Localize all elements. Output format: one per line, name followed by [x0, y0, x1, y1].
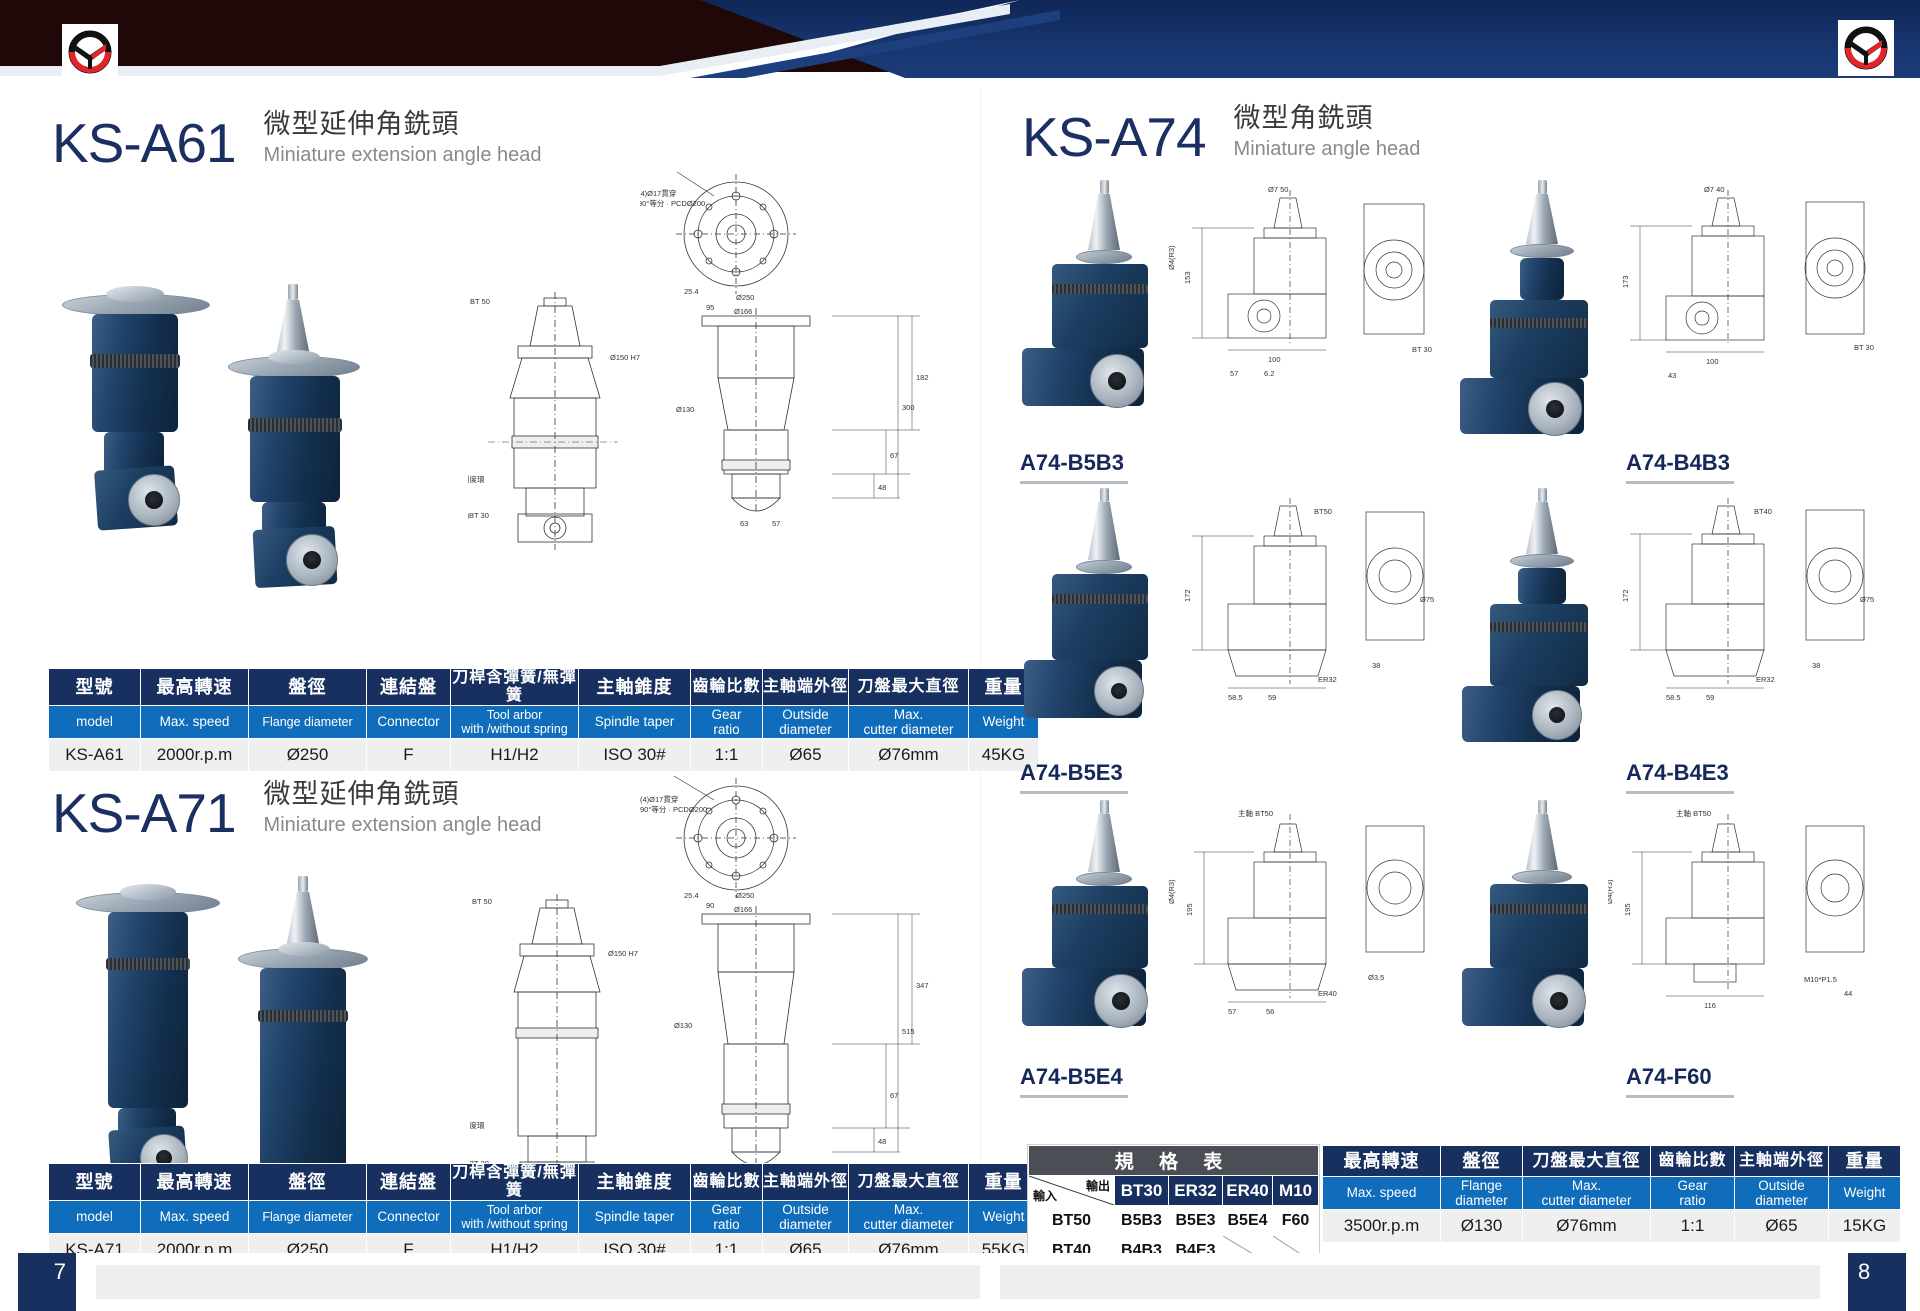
- th-outsidedia-en: Outside diameter: [763, 1200, 849, 1233]
- dim-value: ER40: [1318, 989, 1337, 998]
- dim-value: 57: [1230, 369, 1238, 378]
- th-gearratio-en: Gear ratio: [1651, 1177, 1735, 1210]
- ks-a74-spec-table: 最高轉速 盤徑 刀盤最大直徑 齒輪比數 主軸端外徑 重量 Max. speed …: [1322, 1145, 1901, 1243]
- th-outsidedia-en: Outside diameter: [1735, 1177, 1829, 1210]
- dim-value: 38: [1372, 661, 1380, 670]
- th-gearratio-cn: 齒輪比數: [1651, 1146, 1735, 1177]
- td-outsidedia: Ø65: [763, 738, 849, 771]
- td-maxcutter: Ø76mm: [1523, 1210, 1651, 1243]
- table-header-en-row: model Max. speed Flange diameter Connect…: [49, 1200, 1039, 1233]
- th-gearratio-cn: 齒輪比數: [691, 1164, 763, 1201]
- dim-value: 515: [902, 1027, 915, 1036]
- product-name-en: Miniature extension angle head: [264, 142, 542, 168]
- th-maxcutter-cn: 刀盤最大直徑: [849, 1164, 969, 1201]
- product-name-en: Miniature angle head: [1234, 136, 1421, 162]
- matrix-col-bt30: BT30: [1115, 1176, 1169, 1206]
- dim-value: 63: [740, 519, 748, 528]
- ks-a61-top-view-drawing: (4)Ø17貫穿 90°等分 · PCDØ200 25.4: [640, 172, 840, 302]
- td-spindletaper: ISO 30#: [579, 738, 691, 771]
- th-maxspeed-cn: 最高轉速: [1323, 1146, 1441, 1177]
- th-maxcutter-cn: 刀盤最大直徑: [1523, 1146, 1651, 1177]
- th-toolarbor-en: Tool arbor with /without spring: [451, 705, 579, 738]
- td-maxspeed: 2000r.p.m: [141, 738, 249, 771]
- td-outsidedia: Ø65: [1735, 1210, 1829, 1243]
- banner-base: [0, 78, 1920, 88]
- note-spindle: 主軸 BT50: [1676, 808, 1711, 818]
- dim-value: BT 30: [1412, 345, 1432, 354]
- model-label: A74-B5B3: [1020, 450, 1124, 479]
- model-label-block: A74-B4E3: [1626, 760, 1734, 794]
- dim-value: 58.5: [1666, 693, 1681, 702]
- th-gearratio-en: Gear ratio: [691, 1200, 763, 1233]
- page-number-left: 7: [18, 1253, 76, 1311]
- th-outsidedia-cn: 主軸端外徑: [763, 669, 849, 706]
- product-name-cn: 微型延伸角銑頭: [264, 108, 542, 142]
- th-maxspeed-en: Max. speed: [141, 705, 249, 738]
- model-label: A74-B5E4: [1020, 1064, 1123, 1093]
- matrix-col-m10: M10: [1273, 1176, 1319, 1206]
- model-underline: [1626, 791, 1734, 794]
- matrix-corner-cell: 輸入 輸出: [1029, 1176, 1115, 1206]
- th-toolarbor-en: Tool arbor with /without spring: [451, 1200, 579, 1233]
- th-connector-cn: 連結盤: [367, 669, 451, 706]
- a74-b5e4-dimension-drawing: 主軸 BT50 195 Ø4(R3) ER40 57 56 Ø3.5: [1168, 804, 1458, 1054]
- table-header-cn-row: 最高轉速 盤徑 刀盤最大直徑 齒輪比數 主軸端外徑 重量: [1323, 1146, 1901, 1177]
- product-heading-ks-a74: KS-A74 微型角銑頭 Miniature angle head: [1022, 102, 1420, 165]
- th-toolarbor-cn: 刀桿含彈簧/無彈簧: [451, 669, 579, 706]
- dim-value: 182: [916, 373, 929, 382]
- model-underline: [1626, 481, 1734, 484]
- model-card-a74-b4e3: BT40 172 ER32 58.5 59 38 Ø75 A74-B4E3: [1458, 488, 1908, 798]
- product-heading-ks-a61: KS-A61 微型延伸角銑頭 Miniature extension angle…: [52, 108, 542, 171]
- model-card-a74-b5e3: BT50 172 ER32 58.5 59 38 Ø75 A74-B5E3: [1018, 488, 1458, 798]
- note-dia-130: Ø130: [676, 405, 694, 414]
- th-flange-en: Flange diameter: [249, 1200, 367, 1233]
- model-label: A74-B4B3: [1626, 450, 1730, 479]
- matrix-col-er32: ER32: [1169, 1176, 1223, 1206]
- model-underline: [1020, 481, 1128, 484]
- th-gearratio-cn: 齒輪比數: [691, 669, 763, 706]
- dim-value: 172: [1183, 589, 1192, 602]
- note-bolt-circle: (4)Ø17貫穿: [640, 188, 676, 198]
- a74-selection-matrix: 規 格 表 輸入 輸出 BT30 ER32 ER40 M10 BT50 B5B3…: [1028, 1145, 1319, 1266]
- note-dia-150: Ø150 H7: [608, 949, 638, 958]
- th-spindletaper-en: Spindle taper: [579, 1200, 691, 1233]
- company-logo-icon: [1838, 20, 1894, 76]
- dim-value: 48: [878, 1137, 886, 1146]
- dim-value: BT 30: [1854, 343, 1874, 352]
- matrix-title: 規 格 表: [1029, 1146, 1319, 1176]
- th-toolarbor-cn: 刀桿含彈簧/無彈簧: [451, 1164, 579, 1201]
- page-banner: [0, 0, 1920, 88]
- dim-value: 57: [1228, 1007, 1236, 1016]
- dim-value: Ø75: [1420, 595, 1434, 604]
- th-outsidedia-cn: 主軸端外徑: [763, 1164, 849, 1201]
- th-model-en: model: [49, 705, 141, 738]
- ks-a71-top-view-drawing: (4)Ø17貫穿 90°等分 · PCDØ200 25.4: [640, 768, 840, 908]
- dim-value: 172: [1621, 589, 1630, 602]
- dim-value: 56: [1266, 1007, 1274, 1016]
- dim-value: Ø4(R3): [1168, 879, 1176, 904]
- dim-value: 44: [1844, 989, 1852, 998]
- dim-value: ER32: [1318, 675, 1337, 684]
- model-label-block: A74-B5B3: [1020, 450, 1128, 484]
- dim-value: Ø3.5: [1368, 973, 1384, 982]
- model-label: A74-B4E3: [1626, 760, 1729, 789]
- dim-value: 67: [890, 451, 898, 460]
- note-bolt-spacing: 90°等分 · PCDØ200: [640, 198, 705, 208]
- td-gearratio: 1:1: [691, 738, 763, 771]
- matrix-header-row: 輸入 輸出 BT30 ER32 ER40 M10: [1029, 1176, 1319, 1206]
- dim-value: Ø4(R3): [1608, 879, 1614, 904]
- th-flange-en: Flange diameter: [249, 705, 367, 738]
- dim-value: 95: [706, 303, 714, 312]
- th-model-cn: 型號: [49, 669, 141, 706]
- dim-value: Ø7 40: [1704, 185, 1724, 194]
- td-maxcutter: Ø76mm: [849, 738, 969, 771]
- note-bt-label: BT 50: [470, 297, 490, 306]
- th-connector-en: Connector: [367, 705, 451, 738]
- matrix-cell-b5e4: B5E4: [1223, 1206, 1273, 1236]
- left-page: KS-A61 微型延伸角銑頭 Miniature extension angle…: [0, 88, 980, 1253]
- dim-value: 67: [890, 1091, 898, 1100]
- th-spindletaper-en: Spindle taper: [579, 705, 691, 738]
- th-connector-cn: 連結盤: [367, 1164, 451, 1201]
- note-dia-130: Ø130: [674, 1021, 692, 1030]
- model-underline: [1020, 1095, 1128, 1098]
- ks-a61-front-elevation-drawing: Ø250 Ø166 Ø130 182 300 67 48 95 63 57: [660, 290, 940, 560]
- footer-strip-left: [96, 1265, 980, 1299]
- product-code: KS-A74: [1022, 110, 1206, 165]
- model-card-a74-f60: 主軸 BT50 195 Ø4(R3) M10*P1.5 116 44 A74-F…: [1458, 800, 1908, 1100]
- dim-value: 90: [706, 901, 714, 910]
- dim-value: Ø75: [1860, 595, 1874, 604]
- model-underline: [1020, 791, 1128, 794]
- model-card-a74-b5b3: Ø7 50 153 Ø4(R3) 100 57 6.2 BT 30 A74-B5…: [1018, 180, 1458, 490]
- dim-value: M10*P1.5: [1804, 975, 1837, 984]
- model-label: A74-F60: [1626, 1064, 1712, 1093]
- matrix-cell-b5b3: B5B3: [1115, 1206, 1169, 1236]
- td-gearratio: 1:1: [1651, 1210, 1735, 1243]
- th-maxspeed-cn: 最高轉速: [141, 669, 249, 706]
- th-maxspeed-en: Max. speed: [141, 1200, 249, 1233]
- model-label-block: A74-B5E4: [1020, 1064, 1128, 1098]
- th-weight-cn: 重量: [1829, 1146, 1901, 1177]
- dim-value: 48: [878, 483, 886, 492]
- th-model-cn: 型號: [49, 1164, 141, 1201]
- note-dia-250: Ø250: [736, 891, 754, 900]
- th-maxcutter-cn: 刀盤最大直徑: [849, 669, 969, 706]
- dim-value: 59: [1706, 693, 1714, 702]
- dim-value: BT40: [1754, 507, 1772, 516]
- dim-value: 116: [1704, 1001, 1716, 1010]
- th-flange-cn: 盤徑: [249, 669, 367, 706]
- model-card-a74-b5e4: 主軸 BT50 195 Ø4(R3) ER40 57 56 Ø3.5 A74-B…: [1018, 800, 1458, 1100]
- matrix-cell-b5e3: B5E3: [1169, 1206, 1223, 1236]
- dim-value: BT50: [1314, 507, 1332, 516]
- ks-a71-spec-table: 型號 最高轉速 盤徑 連結盤 刀桿含彈簧/無彈簧 主軸錐度 齒輪比數 主軸端外徑…: [48, 1163, 1039, 1267]
- table-header-en-row: Max. speed Flange diameter Max. cutter d…: [1323, 1177, 1901, 1210]
- model-card-a74-b4b3: Ø7 40 173 100 43 BT 30 A74-B4B3: [1458, 180, 1908, 490]
- dim-value: ER32: [1756, 675, 1775, 684]
- td-model: KS-A61: [49, 738, 141, 771]
- ks-a61-artwork: (4)Ø17貫穿 90°等分 · PCDØ200 25.4: [0, 168, 980, 558]
- dim-value: 300: [902, 403, 915, 412]
- matrix-corner-output: 輸出: [1086, 1177, 1110, 1194]
- dim-value: 58.5: [1228, 693, 1243, 702]
- dim-value: Ø7 50: [1268, 185, 1288, 194]
- table-header-cn-row: 型號 最高轉速 盤徑 連結盤 刀桿含彈簧/無彈簧 主軸錐度 齒輪比數 主軸端外徑…: [49, 1164, 1039, 1201]
- note-scale-ring: 刻度環: [468, 474, 485, 484]
- dim-value: 347: [916, 981, 929, 990]
- th-outsidedia-cn: 主軸端外徑: [1735, 1146, 1829, 1177]
- model-label: A74-B5E3: [1020, 760, 1123, 789]
- dim-value: 173: [1621, 275, 1630, 288]
- a74-b4b3-dimension-drawing: Ø7 40 173 100 43 BT 30: [1608, 184, 1908, 434]
- dim-value: Ø4(R3): [1168, 245, 1176, 270]
- th-weight-en: Weight: [1829, 1177, 1901, 1210]
- note-dia-166: Ø166: [734, 307, 752, 316]
- th-connector-en: Connector: [367, 1200, 451, 1233]
- th-maxcutter-en: Max. cutter diameter: [849, 1200, 969, 1233]
- note-scale-ring: 刻度環: [470, 1120, 485, 1130]
- matrix-col-er40: ER40: [1223, 1176, 1273, 1206]
- note-bt-label: BT 50: [472, 897, 492, 906]
- note-spindle: 主軸 BT50: [1238, 808, 1273, 818]
- dim-value: 59: [1268, 693, 1276, 702]
- footer-strip-right: [1000, 1265, 1820, 1299]
- matrix-row-head-bt50: BT50: [1029, 1206, 1115, 1236]
- model-label-block: A74-B5E3: [1020, 760, 1128, 794]
- td-flange: Ø130: [1441, 1210, 1523, 1243]
- table-header-cn-row: 型號 最高轉速 盤徑 連結盤 刀桿含彈簧/無彈簧 主軸錐度 齒輪比數 主軸端外徑…: [49, 669, 1039, 706]
- td-maxspeed: 3500r.p.m: [1323, 1210, 1441, 1243]
- dim-value: 100: [1268, 355, 1281, 364]
- dim-value: 100: [1706, 357, 1719, 366]
- ks-a71-artwork: (4)Ø17貫穿 90°等分 · PCDØ200 25.4: [0, 788, 980, 1228]
- th-gearratio-en: Gear ratio: [691, 705, 763, 738]
- td-weight: 15KG: [1829, 1210, 1901, 1243]
- th-maxspeed-cn: 最高轉速: [141, 1164, 249, 1201]
- td-connector: F: [367, 738, 451, 771]
- table-row: 3500r.p.m Ø130 Ø76mm 1:1 Ø65 15KG: [1323, 1210, 1901, 1243]
- note-spindle: 主軸BT 30: [468, 510, 489, 520]
- th-spindletaper-cn: 主軸錐度: [579, 1164, 691, 1201]
- a74-f60-dimension-drawing: 主軸 BT50 195 Ø4(R3) M10*P1.5 116 44: [1608, 804, 1908, 1054]
- th-flange-cn: 盤徑: [1441, 1146, 1523, 1177]
- company-logo-icon: [62, 24, 118, 80]
- note-dia-250: Ø250: [736, 293, 754, 302]
- table-row: KS-A61 2000r.p.m Ø250 F H1/H2 ISO 30# 1:…: [49, 738, 1039, 771]
- product-name-cn: 微型角銑頭: [1234, 102, 1421, 136]
- th-maxspeed-en: Max. speed: [1323, 1177, 1441, 1210]
- product-code: KS-A61: [52, 116, 236, 171]
- matrix-cell-f60: F60: [1273, 1206, 1319, 1236]
- th-outsidedia-en: Outside diameter: [763, 705, 849, 738]
- matrix-row-bt50: BT50 B5B3 B5E3 B5E4 F60: [1029, 1206, 1319, 1236]
- page-number-right: 8: [1848, 1253, 1906, 1311]
- note-dia-166: Ø166: [734, 905, 752, 914]
- a74-b5b3-dimension-drawing: Ø7 50 153 Ø4(R3) 100 57 6.2 BT 30: [1168, 184, 1458, 434]
- matrix-corner-input: 輸入: [1033, 1187, 1057, 1204]
- right-page: KS-A74 微型角銑頭 Miniature angle head: [1000, 88, 1920, 1253]
- model-label-block: A74-F60: [1626, 1064, 1734, 1098]
- dim-value: 57: [772, 519, 780, 528]
- matrix-title-row: 規 格 表: [1029, 1146, 1319, 1176]
- a74-b5e3-dimension-drawing: BT50 172 ER32 58.5 59 38 Ø75: [1168, 492, 1458, 742]
- th-maxcutter-en: Max. cutter diameter: [849, 705, 969, 738]
- dim-value: 38: [1812, 661, 1820, 670]
- a74-b4e3-dimension-drawing: BT40 172 ER32 58.5 59 38 Ø75: [1608, 492, 1908, 742]
- td-toolarbor: H1/H2: [451, 738, 579, 771]
- dim-value: 195: [1185, 903, 1194, 916]
- dim-value: 43: [1668, 371, 1676, 380]
- note-bolt-circle: (4)Ø17貫穿: [640, 794, 678, 804]
- note-dia-150: Ø150 H7: [610, 353, 640, 362]
- note-bolt-spacing: 90°等分 · PCDØ200: [640, 804, 707, 814]
- th-model-en: model: [49, 1200, 141, 1233]
- td-flange: Ø250: [249, 738, 367, 771]
- model-label-block: A74-B4B3: [1626, 450, 1734, 484]
- th-flange-cn: 盤徑: [249, 1164, 367, 1201]
- th-flange-en: Flange diameter: [1441, 1177, 1523, 1210]
- th-spindletaper-cn: 主軸錐度: [579, 669, 691, 706]
- dim-value: 153: [1183, 271, 1192, 284]
- th-maxcutter-en: Max. cutter diameter: [1523, 1177, 1651, 1210]
- dim-value: 195: [1623, 903, 1632, 916]
- model-underline: [1626, 1095, 1734, 1098]
- dim-value: 6.2: [1264, 369, 1274, 378]
- ks-a61-spec-table: 型號 最高轉速 盤徑 連結盤 刀桿含彈簧/無彈簧 主軸錐度 齒輪比數 主軸端外徑…: [48, 668, 1039, 772]
- table-header-en-row: model Max. speed Flange diameter Connect…: [49, 705, 1039, 738]
